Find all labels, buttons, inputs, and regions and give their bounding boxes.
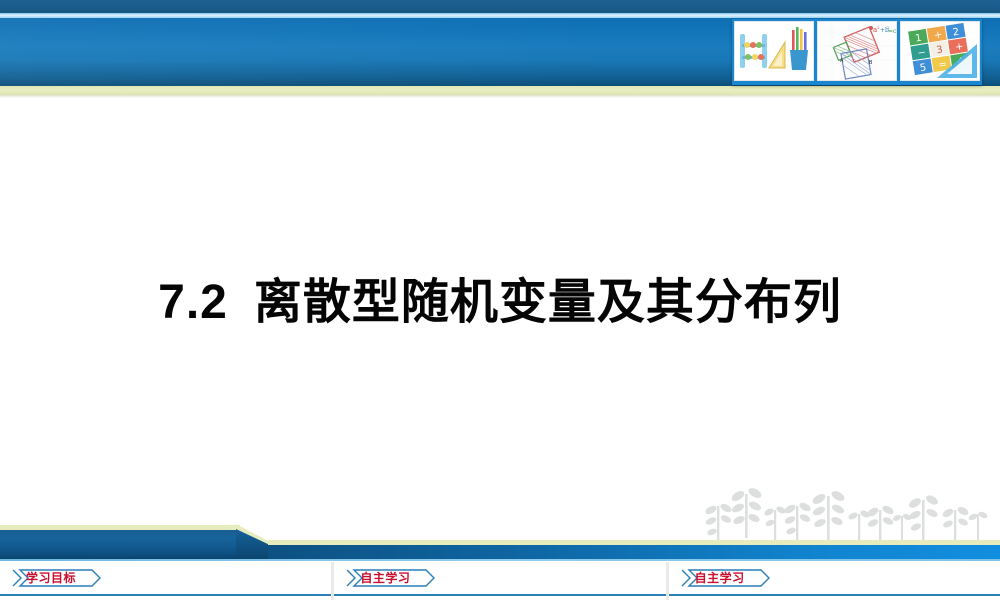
bottom-tab-label-3: 自主学习: [681, 568, 761, 588]
chevron-tab-1[interactable]: 学习目标: [12, 568, 92, 588]
geometry-diagram-picture: A B a 2 +b 2 =c: [817, 21, 897, 81]
footer-band: [0, 500, 1000, 562]
bottom-tab-label-1: 学习目标: [12, 568, 92, 588]
svg-text:+: +: [954, 41, 964, 53]
bottom-tab-cell-2[interactable]: 自主学习: [334, 562, 665, 600]
header-yellow-strip: [0, 86, 1000, 95]
footer-underline: [0, 559, 1000, 561]
chevron-tab-3[interactable]: 自主学习: [681, 568, 761, 588]
header-yellow-shadow: [0, 95, 1000, 98]
bottom-tab-strip: 学习目标 自主学习 自主学习: [0, 562, 1000, 600]
slide-canvas: A B a 2 +b 2 =c: [0, 0, 1000, 600]
chevron-tab-2[interactable]: 自主学习: [346, 568, 426, 588]
bottom-tab-label-2: 自主学习: [346, 568, 426, 588]
svg-text:A: A: [840, 58, 844, 64]
svg-text:B: B: [869, 60, 873, 66]
title-block: 7.2离散型随机变量及其分布列: [0, 276, 1000, 330]
title-number: 7.2: [158, 276, 228, 329]
title-text: 离散型随机变量及其分布列: [254, 274, 842, 330]
svg-text:=: =: [938, 59, 948, 71]
header-dark-strip: [0, 0, 1000, 13]
footer-left-blue-band: [0, 530, 242, 559]
page-title: 7.2离散型随机变量及其分布列: [158, 276, 842, 330]
svg-text:=c: =c: [888, 28, 896, 35]
svg-text:−: −: [917, 47, 927, 59]
bottom-tab-cell-3[interactable]: 自主学习: [669, 562, 1000, 600]
footer-right-blue-band: [268, 545, 1000, 559]
svg-text:+: +: [933, 29, 943, 41]
slide-header: A B a 2 +b 2 =c: [0, 0, 1000, 100]
abacus-pens-picture: [734, 21, 814, 81]
number-cube-picture: 1 + 2 − 3 + 5 = 4: [900, 21, 980, 81]
header-picture-strip: A B a 2 +b 2 =c: [732, 19, 982, 85]
bottom-tab-cell-1[interactable]: 学习目标: [0, 562, 331, 600]
